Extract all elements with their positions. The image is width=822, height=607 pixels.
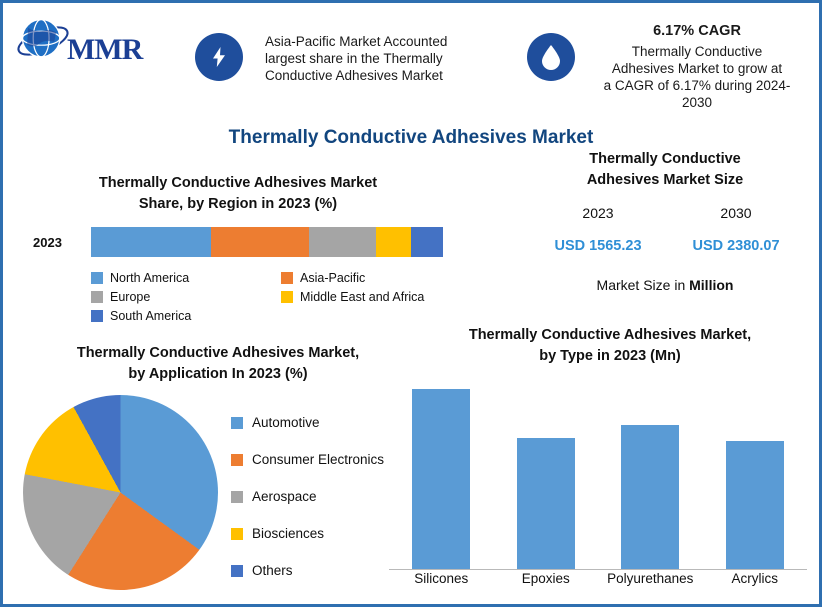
region-share-legend-row-3: South America — [91, 309, 491, 323]
legend-swatch-europe — [91, 291, 103, 303]
market-size-year-2030: 2030 — [681, 205, 791, 221]
region-share-segment-south-america — [411, 227, 443, 257]
legend-item-asia-pacific: Asia-Pacific — [281, 271, 365, 285]
legend-item-aerospace: Aerospace — [231, 489, 384, 504]
legend-swatch-asia-pacific — [281, 272, 293, 284]
bar-acrylics — [726, 441, 784, 569]
water-drop-icon — [527, 33, 575, 81]
legend-item-others: Others — [231, 563, 384, 578]
header-item-0-text: Asia-Pacific Market Accounted largest sh… — [265, 33, 501, 84]
region-share-stacked-bar — [91, 227, 443, 257]
region-share-title-line2: Share, by Region in 2023 (%) — [43, 194, 433, 215]
brand-logo-text: MMR — [67, 33, 142, 67]
market-size-title-line2: Adhesives Market Size — [515, 170, 815, 191]
market-size-unit-prefix: Market Size in — [597, 277, 690, 293]
region-share-segment-europe — [309, 227, 376, 257]
bar-polyurethanes — [621, 425, 679, 569]
header: MMR Asia-Pacific Market Accounted larges… — [3, 3, 819, 121]
header-item-1-line1: Thermally Conductive — [581, 43, 813, 60]
brand-logo: MMR — [11, 11, 181, 73]
region-share-title-line1: Thermally Conductive Adhesives Market — [43, 173, 433, 194]
region-share-legend-row-2: Europe Middle East and Africa — [91, 290, 491, 304]
application-pie-title-line1: Thermally Conductive Adhesives Market, — [21, 343, 415, 364]
legend-label-north-america: North America — [110, 271, 189, 285]
legend-swatch-biosciences — [231, 528, 243, 540]
region-share-legend-row-1: North America Asia-Pacific — [91, 271, 491, 285]
axis-label-epoxies: Epoxies — [496, 571, 596, 586]
legend-label-middle-east-africa: Middle East and Africa — [300, 290, 424, 304]
globe-icon — [15, 13, 71, 69]
type-column-title-line2: by Type in 2023 (Mn) — [405, 346, 815, 367]
header-item-0-line1: Asia-Pacific Market Accounted — [265, 33, 501, 50]
header-item-0-icon-wrap — [195, 33, 243, 81]
legend-item-north-america: North America — [91, 271, 281, 285]
legend-item-middle-east-africa: Middle East and Africa — [281, 290, 424, 304]
type-column-bars — [389, 371, 807, 569]
header-item-1-text: 6.17% CAGR Thermally Conductive Adhesive… — [581, 23, 813, 111]
legend-label-biosciences: Biosciences — [252, 526, 324, 541]
legend-label-others: Others — [252, 563, 293, 578]
type-column-title-line1: Thermally Conductive Adhesives Market, — [405, 325, 815, 346]
axis-label-silicones: Silicones — [391, 571, 491, 586]
region-share-chart-title: Thermally Conductive Adhesives Market Sh… — [43, 173, 433, 215]
legend-swatch-automotive — [231, 417, 243, 429]
axis-label-acrylics: Acrylics — [705, 571, 805, 586]
header-item-1-line4: 2030 — [581, 94, 813, 111]
market-size-unit-note: Market Size in Million — [515, 277, 815, 293]
legend-swatch-aerospace — [231, 491, 243, 503]
market-size-value-2030: USD 2380.07 — [671, 238, 801, 254]
legend-label-south-america: South America — [110, 309, 191, 323]
type-column-chart-title: Thermally Conductive Adhesives Market, b… — [405, 325, 815, 367]
infographic-page: MMR Asia-Pacific Market Accounted larges… — [0, 0, 822, 607]
header-item-0-line3: Conductive Adhesives Market — [265, 67, 501, 84]
axis-label-polyurethanes: Polyurethanes — [600, 571, 700, 586]
legend-label-europe: Europe — [110, 290, 150, 304]
region-share-segment-middle-east-africa — [376, 227, 411, 257]
legend-label-asia-pacific: Asia-Pacific — [300, 271, 365, 285]
header-item-1-line2: Adhesives Market to grow at — [581, 60, 813, 77]
header-item-1-line3: a CAGR of 6.17% during 2024- — [581, 77, 813, 94]
header-item-0-line2: largest share in the Thermally — [265, 50, 501, 67]
water-drop-glyph — [540, 44, 562, 70]
legend-label-aerospace: Aerospace — [252, 489, 317, 504]
market-size-title: Thermally Conductive Adhesives Market Si… — [515, 149, 815, 191]
legend-swatch-north-america — [91, 272, 103, 284]
legend-item-biosciences: Biosciences — [231, 526, 384, 541]
legend-label-automotive: Automotive — [252, 415, 320, 430]
market-size-title-line1: Thermally Conductive — [515, 149, 815, 170]
legend-item-south-america: South America — [91, 309, 281, 323]
header-item-1-icon-wrap — [527, 33, 575, 81]
legend-swatch-consumer-electronics — [231, 454, 243, 466]
application-pie-legend: Automotive Consumer Electronics Aerospac… — [231, 415, 384, 600]
region-share-segment-asia-pacific — [211, 227, 310, 257]
bar-silicones — [412, 389, 470, 569]
lightning-bolt-glyph — [207, 45, 231, 69]
market-size-year-2023: 2023 — [543, 205, 653, 221]
application-pie-chart — [23, 395, 218, 590]
region-share-segment-north-america — [91, 227, 211, 257]
bar-epoxies — [517, 438, 575, 569]
application-pie-title-line2: by Application In 2023 (%) — [21, 364, 415, 385]
legend-swatch-south-america — [91, 310, 103, 322]
application-pie-title: Thermally Conductive Adhesives Market, b… — [21, 343, 415, 385]
type-column-axis-labels: Silicones Epoxies Polyurethanes Acrylics — [389, 571, 807, 586]
header-item-1-headline: 6.17% CAGR — [581, 23, 813, 40]
lightning-bolt-icon — [195, 33, 243, 81]
market-size-unit-bold: Million — [689, 277, 733, 293]
legend-label-consumer-electronics: Consumer Electronics — [252, 452, 384, 467]
legend-item-consumer-electronics: Consumer Electronics — [231, 452, 384, 467]
region-share-category-label: 2023 — [33, 235, 62, 250]
legend-swatch-middle-east-africa — [281, 291, 293, 303]
legend-item-automotive: Automotive — [231, 415, 384, 430]
legend-item-europe: Europe — [91, 290, 281, 304]
region-share-legend: North America Asia-Pacific Europe Middle… — [91, 271, 491, 328]
legend-swatch-others — [231, 565, 243, 577]
page-title: Thermally Conductive Adhesives Market — [3, 127, 819, 149]
market-size-value-2023: USD 1565.23 — [533, 238, 663, 254]
